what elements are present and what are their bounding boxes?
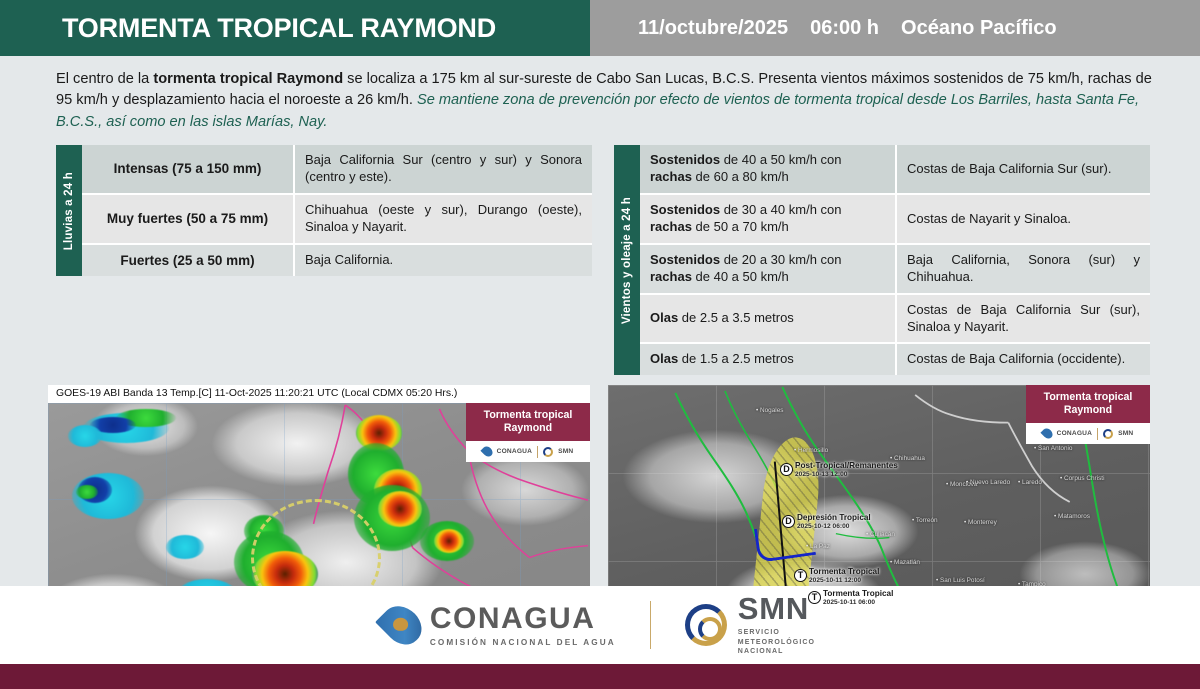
satellite-badge-title: Tormenta tropical Raymond [466,403,590,441]
table-row: Intensas (75 a 150 mm) Baja California S… [82,145,592,194]
city-label: San Luis Potosí [936,577,985,584]
bulletin-basin: Océano Pacífico [901,17,1057,40]
bulletin-time: 06:00 h [810,17,879,40]
divider [1097,428,1098,440]
wind-spec: Sostenidos de 20 a 30 km/h con rachas de… [640,244,896,294]
marker-symbol-icon: D [780,463,793,476]
marker-symbol-icon: T [794,569,807,582]
wind-table-vertical-label: Vientos y oleaje a 24 h [620,197,634,324]
page-title: TORMENTA TROPICAL RAYMOND [62,13,496,44]
marker-label: Post-Tropical/Remanentes 2025-10-13 12:0… [795,461,898,478]
water-drop-icon [1040,427,1054,441]
table-row: Muy fuertes (50 a 75 mm) Chihuahua (oest… [82,194,592,244]
smn-logo-text: SMN SERVICIO METEOROLÓGICO NACIONAL [738,593,815,656]
marker-symbol-icon: T [808,591,821,604]
conagua-logo-text: CONAGUA COMISIÓN NACIONAL DEL AGUA [430,604,616,647]
trajectory-badge: Tormenta tropical Raymond CONAGUA SMN [1026,385,1150,444]
city-label: La Paz [806,543,830,550]
water-drop-icon [480,445,494,459]
wave-spec: Olas de 1.5 a 2.5 metros [640,343,896,375]
page-footer: CONAGUA COMISIÓN NACIONAL DEL AGUA SMN S… [0,586,1200,664]
bulletin-date: 11/octubre/2025 [638,17,788,40]
forecast-marker[interactable]: D Depresión Tropical 2025-10-12 06:00 [782,515,795,528]
wave-areas: Costas de Baja California (occidente). [896,343,1150,375]
conagua-logo: CONAGUA COMISIÓN NACIONAL DEL AGUA [385,604,616,647]
bottom-accent-bar [0,664,1200,689]
marker-time: 2025-10-13 12:00 [795,471,898,479]
city-label: Corpus Christi [1060,475,1105,482]
smn-logo: SMN SERVICIO METEOROLÓGICO NACIONAL [685,593,815,656]
city-label: Torreón [912,517,938,524]
rain-table-vertical-label: Lluvias a 24 h [62,172,76,250]
conagua-label: CONAGUA [497,448,532,455]
spiral-icon [1103,429,1113,439]
table-row: Sostenidos de 20 a 30 km/h con rachas de… [640,244,1150,294]
water-drop-icon [375,598,429,652]
header-meta-block: 11/octubre/2025 06:00 h Océano Pacífico [590,0,1200,56]
rain-level: Fuertes (25 a 50 mm) [82,244,294,277]
divider [537,446,538,458]
summary-paragraph: El centro de la tormenta tropical Raymon… [56,69,1152,133]
wind-table-grid: Sostenidos de 40 a 50 km/h con rachas de… [640,145,1150,375]
wind-areas: Costas de Baja California Sur (sur). [896,145,1150,194]
table-row: Sostenidos de 30 a 40 km/h con rachas de… [640,194,1150,244]
rain-table-grid: Intensas (75 a 150 mm) Baja California S… [82,145,592,276]
marker-time: 2025-10-12 06:00 [797,523,871,531]
spiral-icon [685,604,727,646]
table-row: Olas de 1.5 a 2.5 metros Costas de Baja … [640,343,1150,375]
hazard-tables: Lluvias a 24 h Intensas (75 a 150 mm) Ba… [56,145,1150,375]
marker-label: Depresión Tropical 2025-10-12 06:00 [797,513,871,530]
rain-table-vertical-header: Lluvias a 24 h [56,145,82,276]
rain-level: Muy fuertes (50 a 75 mm) [82,194,294,244]
city-label: Nogales [756,407,783,414]
city-label: Monterrey [964,519,997,526]
wave-areas: Costas de Baja California Sur (sur), Sin… [896,294,1150,344]
city-label: Matamoros [1054,513,1090,520]
page-header: TORMENTA TROPICAL RAYMOND 11/octubre/202… [0,0,1200,56]
logo-divider [650,601,651,649]
wave-spec: Olas de 2.5 a 3.5 metros [640,294,896,344]
conagua-label: CONAGUA [1057,430,1092,437]
rain-table: Lluvias a 24 h Intensas (75 a 150 mm) Ba… [56,145,592,276]
city-label: San Antonio [1034,445,1072,452]
marker-symbol-icon: D [782,515,795,528]
smn-name: SMN [738,593,815,624]
bulletin-page: TORMENTA TROPICAL RAYMOND 11/octubre/202… [0,0,1200,689]
wind-spec: Sostenidos de 30 a 40 km/h con rachas de… [640,194,896,244]
table-row: Fuertes (25 a 50 mm) Baja California. [82,244,592,277]
rain-areas: Baja California Sur (centro y sur) y Son… [294,145,592,194]
city-label: Hermosillo [794,447,828,454]
trajectory-badge-title: Tormenta tropical Raymond [1026,385,1150,423]
marker-label: Tormenta Tropical 2025-10-11 06:00 [823,589,893,606]
satellite-caption: GOES-19 ABI Banda 13 Temp.[C] 11-Oct-202… [48,385,590,403]
wind-areas: Costas de Nayarit y Sinaloa. [896,194,1150,244]
city-label: Nuevo Laredo [966,479,1010,486]
wind-spec: Sostenidos de 40 a 50 km/h con rachas de… [640,145,896,194]
satellite-badge: Tormenta tropical Raymond CONAGUA SMN [466,403,590,462]
header-title-block: TORMENTA TROPICAL RAYMOND [0,0,590,56]
rain-level: Intensas (75 a 150 mm) [82,145,294,194]
trajectory-badge-logos: CONAGUA SMN [1026,423,1150,444]
wind-table-vertical-header: Vientos y oleaje a 24 h [614,145,640,375]
summary-text-1: El centro de la [56,71,153,87]
rain-areas: Baja California. [294,244,592,277]
marker-time: 2025-10-11 06:00 [823,599,893,607]
city-label: Laredo [1018,479,1042,486]
city-label: Mazatlán [890,559,920,566]
table-row: Olas de 2.5 a 3.5 metros Costas de Baja … [640,294,1150,344]
forecast-marker[interactable]: T Tormenta Tropical 2025-10-11 06:00 [808,591,821,604]
wind-table: Vientos y oleaje a 24 h Sostenidos de 40… [614,145,1150,375]
summary-storm-name: tormenta tropical Raymond [153,71,343,87]
smn-label: SMN [558,448,573,455]
table-row: Sostenidos de 40 a 50 km/h con rachas de… [640,145,1150,194]
wind-areas: Baja California, Sonora (sur) y Chihuahu… [896,244,1150,294]
smn-label: SMN [1118,430,1133,437]
marker-label: Tormenta Tropical 2025-10-11 12:00 [809,567,879,584]
conagua-subtitle: COMISIÓN NACIONAL DEL AGUA [430,638,616,647]
forecast-marker[interactable]: T Tormenta Tropical 2025-10-11 12:00 [794,569,807,582]
satellite-badge-logos: CONAGUA SMN [466,441,590,462]
forecast-marker[interactable]: D Post-Tropical/Remanentes 2025-10-13 12… [780,463,793,476]
spiral-icon [543,447,553,457]
city-label: Culiacán [866,531,895,538]
rain-areas: Chihuahua (oeste y sur), Durango (oeste)… [294,194,592,244]
smn-subtitle: SERVICIO METEOROLÓGICO NACIONAL [738,628,815,656]
conagua-name: CONAGUA [430,604,616,634]
marker-time: 2025-10-11 12:00 [809,577,879,585]
